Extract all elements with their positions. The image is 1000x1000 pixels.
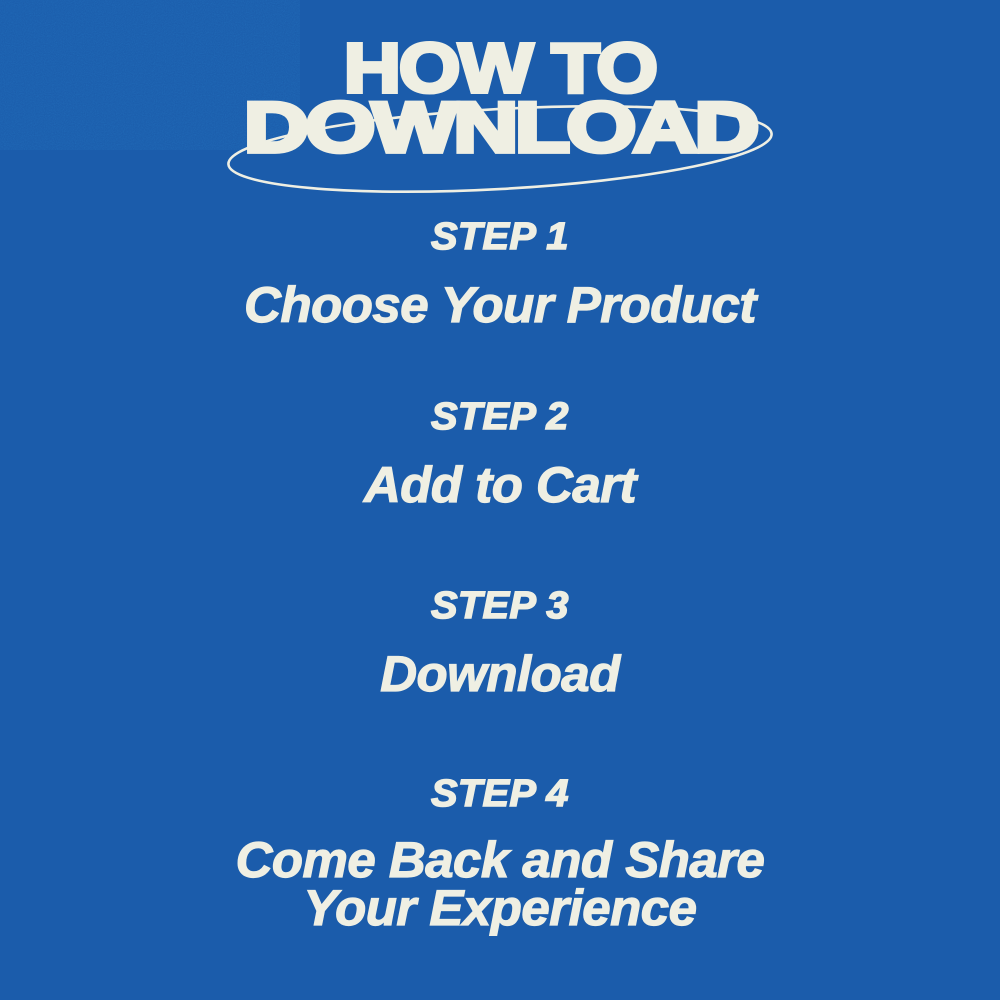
step-item-4: STEP 4 Come Back and Share Your Experien… [0, 775, 1000, 932]
title-line-download: DOWNLOAD [0, 92, 1000, 163]
title-block: HOW TO DOWNLOAD [0, 34, 1000, 184]
step-1-label: STEP 1 [0, 218, 1000, 256]
step-2-label: STEP 2 [0, 398, 1000, 436]
step-1-title: Choose Your Product [0, 280, 1000, 330]
step-3-title: Download [0, 649, 1000, 699]
step-item-3: STEP 3 Download [0, 587, 1000, 699]
step-item-2: STEP 2 Add to Cart [0, 398, 1000, 510]
step-4-label: STEP 4 [0, 775, 1000, 813]
poster-canvas: HOW TO DOWNLOAD STEP 1 Choose Your Produ… [0, 0, 1000, 1000]
step-item-1: STEP 1 Choose Your Product [0, 218, 1000, 330]
step-3-label: STEP 3 [0, 587, 1000, 625]
step-2-title: Add to Cart [0, 460, 1000, 510]
step-4-title: Come Back and Share Your Experience [0, 837, 1000, 932]
